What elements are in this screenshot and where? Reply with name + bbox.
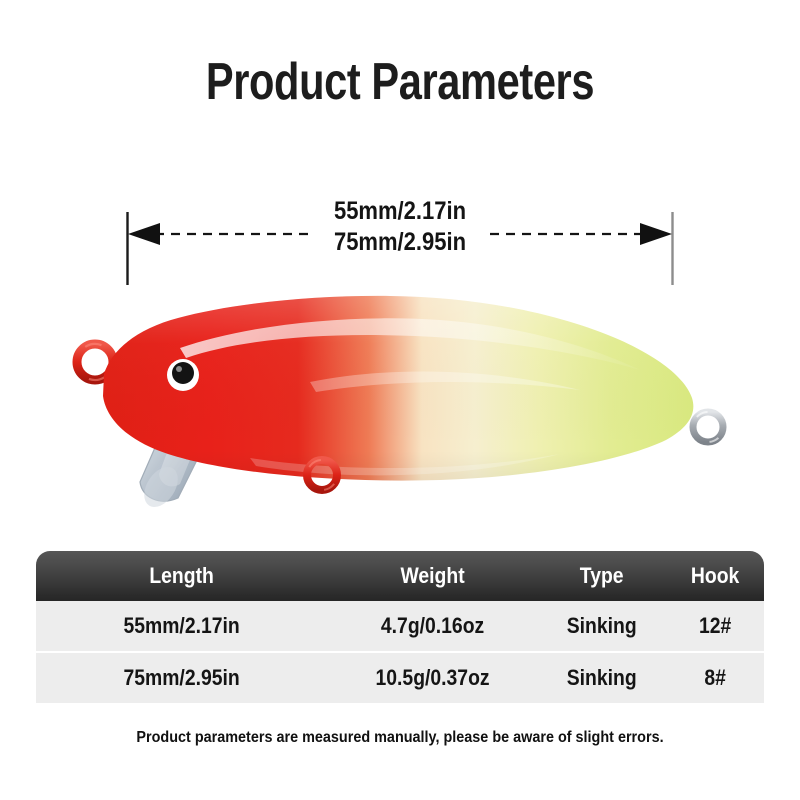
page-title: Product Parameters: [80, 52, 720, 112]
tail-hook-ring: [687, 406, 729, 448]
cell-type: Sinking: [546, 653, 658, 703]
cell-weight: 4.7g/0.16oz: [340, 601, 526, 651]
cell-type: Sinking: [546, 601, 658, 651]
column-header-type: Type: [546, 551, 658, 601]
cell-weight: 10.5g/0.37oz: [340, 653, 526, 703]
column-header-weight: Weight: [340, 551, 526, 601]
cell-hook: 8#: [672, 653, 758, 703]
table-row: 75mm/2.95in 10.5g/0.37oz Sinking 8#: [36, 653, 764, 705]
cell-hook: 12#: [672, 601, 758, 651]
cell-length: 55mm/2.17in: [53, 601, 309, 651]
arrow-right-icon: [640, 223, 672, 245]
column-header-length: Length: [53, 551, 309, 601]
product-image: [60, 262, 740, 532]
lure-eye: [167, 359, 199, 391]
spec-table: Length Weight Type Hook 55mm/2.17in 4.7g…: [36, 551, 764, 705]
cell-length: 75mm/2.95in: [53, 653, 309, 703]
fishing-lure-illustration: [60, 262, 740, 532]
arrow-left-icon: [128, 223, 160, 245]
table-header-row: Length Weight Type Hook: [36, 551, 764, 601]
table-row: 55mm/2.17in 4.7g/0.16oz Sinking 12#: [36, 601, 764, 653]
measurement-disclaimer: Product parameters are measured manually…: [40, 729, 760, 747]
column-header-hook: Hook: [672, 551, 758, 601]
